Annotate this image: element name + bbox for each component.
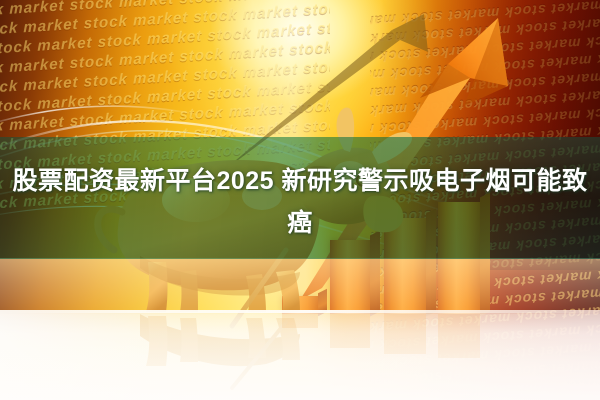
ticker-row: stock market stock market stock market s… (370, 120, 600, 157)
ticker-row: stock market stock market stock market s… (0, 38, 330, 80)
bottom-veil (0, 258, 600, 400)
ticker-row: stock market stock market stock market s… (370, 31, 600, 67)
stock-market-banner: stock market stock market stock market s… (0, 0, 600, 400)
ticker-row: stock market stock market stock market s… (370, 48, 600, 85)
ticker-row: stock market stock market stock market s… (0, 0, 330, 40)
ticker-row: stock market stock market stock market s… (370, 66, 600, 104)
ticker-row: stock market stock market stock market s… (0, 19, 330, 59)
reflective-floor (0, 310, 600, 400)
ticker-row: stock market stock market stock market s… (370, 83, 600, 121)
bar-1-side (318, 289, 327, 316)
ticker-row: stock market stock market stock market s… (0, 77, 330, 117)
floor-color-tint (0, 310, 600, 400)
ticker-row: stock market stock market stock market s… (370, 319, 600, 355)
bar-1 (282, 296, 318, 314)
ticker-row: stock market stock market stock market s… (0, 0, 330, 22)
ticker-row: stock market stock market stock market s… (0, 115, 330, 156)
ticker-row: stock market stock market stock market s… (370, 0, 600, 31)
ticker-row: stock market stock market stock market s… (370, 336, 600, 373)
ticker-row: stock market stock market stock market s… (370, 371, 600, 400)
ticker-row: stock market stock market stock market s… (370, 11, 600, 49)
ticker-row: stock market stock market stock market s… (370, 103, 600, 139)
ticker-row: stock market stock market stock market s… (0, 96, 330, 138)
page-title: 股票配资最新平台2025 新研究警示吸电子烟可能致癌 (0, 160, 600, 244)
ticker-row: stock market stock market stock market s… (0, 57, 330, 98)
bar-2 (330, 240, 370, 314)
ticker-row: stock market stock market stock market s… (370, 354, 600, 392)
